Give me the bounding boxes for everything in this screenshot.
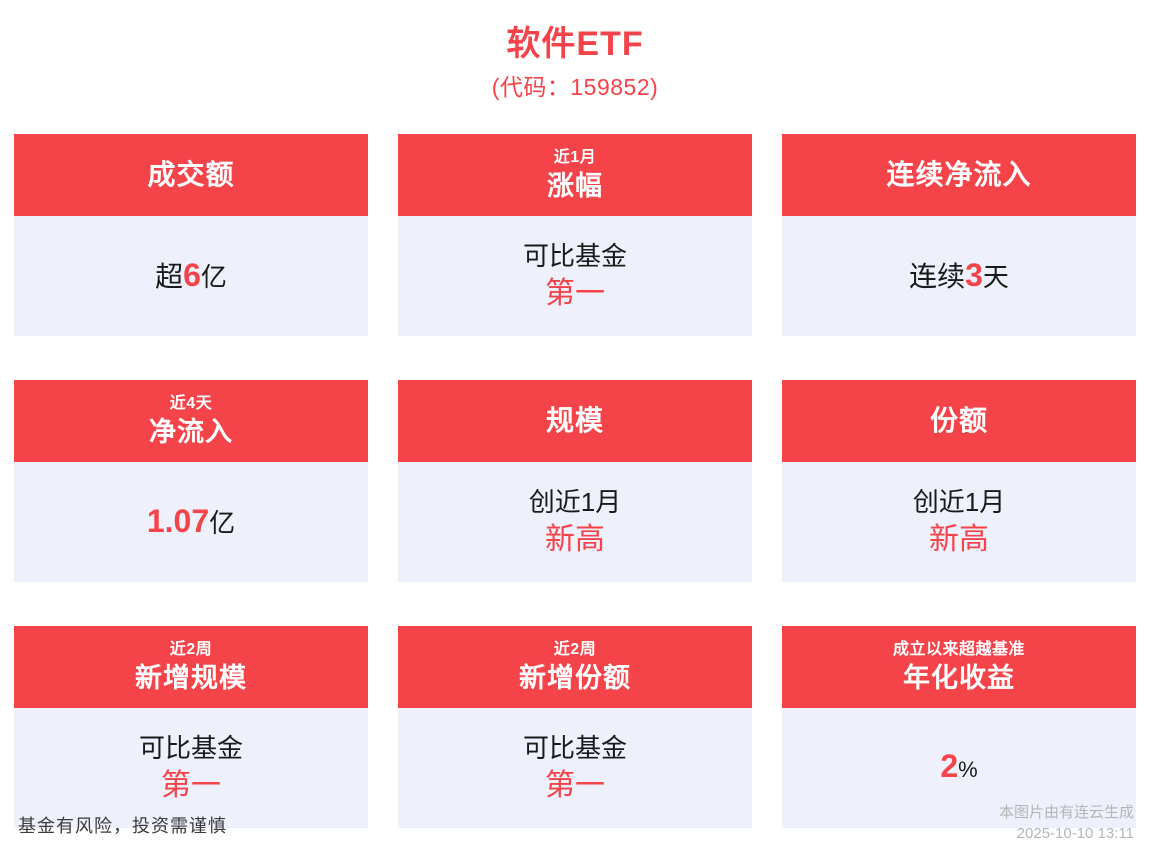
fund-code-subtitle: (代码：159852) (0, 70, 1150, 104)
card-subtitle: 近4天 (170, 393, 212, 415)
card-title: 新增规模 (135, 661, 247, 695)
metric-card-net-inflow: 近4天 净流入 1.07亿 (14, 380, 368, 582)
card-header: 成交额 (14, 134, 368, 216)
metric-card-turnover: 成交额 超6亿 (14, 134, 368, 336)
card-header: 近2周 新增规模 (14, 626, 368, 708)
card-header: 连续净流入 (782, 134, 1136, 216)
card-value-top: 创近1月 (913, 484, 1005, 520)
card-body: 可比基金 第一 (398, 216, 752, 336)
card-title: 成交额 (147, 158, 234, 192)
card-title: 年化收益 (903, 661, 1015, 695)
value-unit: 亿 (209, 508, 235, 538)
value-unit: 天 (983, 262, 1009, 292)
card-header: 成立以来超越基准 年化收益 (782, 626, 1136, 708)
card-body: 1.07亿 (14, 462, 368, 582)
card-title: 涨幅 (547, 169, 603, 203)
generated-timestamp: 2025-10-10 13:11 (999, 823, 1134, 844)
card-value-bottom: 新高 (929, 520, 989, 560)
metric-card-shares: 份额 创近1月 新高 (782, 380, 1136, 582)
value-number: 3 (965, 257, 983, 293)
card-body: 可比基金 第一 (398, 708, 752, 828)
card-subtitle: 近2周 (170, 639, 212, 661)
metric-card-grid: 成交额 超6亿 近1月 涨幅 可比基金 第一 连续净流入 连续3天 (14, 134, 1136, 828)
card-header: 近1月 涨幅 (398, 134, 752, 216)
card-body: 连续3天 (782, 216, 1136, 336)
header: 软件ETF (代码：159852) (0, 0, 1150, 104)
card-header: 近2周 新增份额 (398, 626, 752, 708)
value-prefix: 超 (155, 261, 183, 292)
card-title: 净流入 (149, 415, 233, 449)
card-title: 新增份额 (519, 661, 631, 695)
card-subtitle: 近2周 (554, 639, 596, 661)
card-value-bottom: 第一 (545, 766, 605, 806)
card-header: 份额 (782, 380, 1136, 462)
card-title: 规模 (546, 404, 604, 438)
source-label: 本图片由有连云生成 (999, 802, 1134, 823)
metric-card-consecutive-inflow: 连续净流入 连续3天 (782, 134, 1136, 336)
card-value-bottom: 新高 (545, 520, 605, 560)
card-value-top: 可比基金 (139, 730, 243, 766)
value-prefix: 连续 (909, 261, 965, 292)
card-body: 超6亿 (14, 216, 368, 336)
card-value-top: 创近1月 (529, 484, 621, 520)
metric-card-scale-growth: 近2周 新增规模 可比基金 第一 (14, 626, 368, 828)
card-value: 超6亿 (155, 257, 227, 295)
value-number: 6 (183, 257, 201, 293)
card-value-top: 可比基金 (523, 238, 627, 274)
metric-card-annualized-excess-return: 成立以来超越基准 年化收益 2% (782, 626, 1136, 828)
metric-card-monthly-gain: 近1月 涨幅 可比基金 第一 (398, 134, 752, 336)
card-title: 连续净流入 (886, 158, 1031, 192)
page-title: 软件ETF (0, 22, 1150, 66)
etf-infographic-page: 软件ETF (代码：159852) 成交额 超6亿 近1月 涨幅 可比基金 第一 (0, 0, 1150, 860)
card-value: 2% (940, 748, 977, 788)
card-value: 1.07亿 (147, 503, 235, 541)
value-number: 2 (940, 748, 958, 784)
card-value-bottom: 第一 (161, 766, 221, 806)
card-header: 规模 (398, 380, 752, 462)
card-title: 份额 (930, 404, 988, 438)
risk-disclaimer: 基金有风险，投资需谨慎 (18, 812, 227, 838)
card-body: 创近1月 新高 (398, 462, 752, 582)
card-body: 可比基金 第一 (14, 708, 368, 828)
value-number: 1.07 (147, 503, 209, 539)
card-subtitle: 成立以来超越基准 (893, 639, 1025, 661)
card-value: 连续3天 (909, 257, 1009, 295)
card-subtitle: 近1月 (554, 147, 596, 169)
footer-attribution: 本图片由有连云生成 2025-10-10 13:11 (999, 802, 1134, 844)
value-unit: 亿 (201, 262, 227, 292)
metric-card-scale: 规模 创近1月 新高 (398, 380, 752, 582)
card-value-bottom: 第一 (545, 274, 605, 314)
value-unit: % (958, 757, 978, 782)
metric-card-share-growth: 近2周 新增份额 可比基金 第一 (398, 626, 752, 828)
card-header: 近4天 净流入 (14, 380, 368, 462)
card-body: 创近1月 新高 (782, 462, 1136, 582)
card-value-top: 可比基金 (523, 730, 627, 766)
